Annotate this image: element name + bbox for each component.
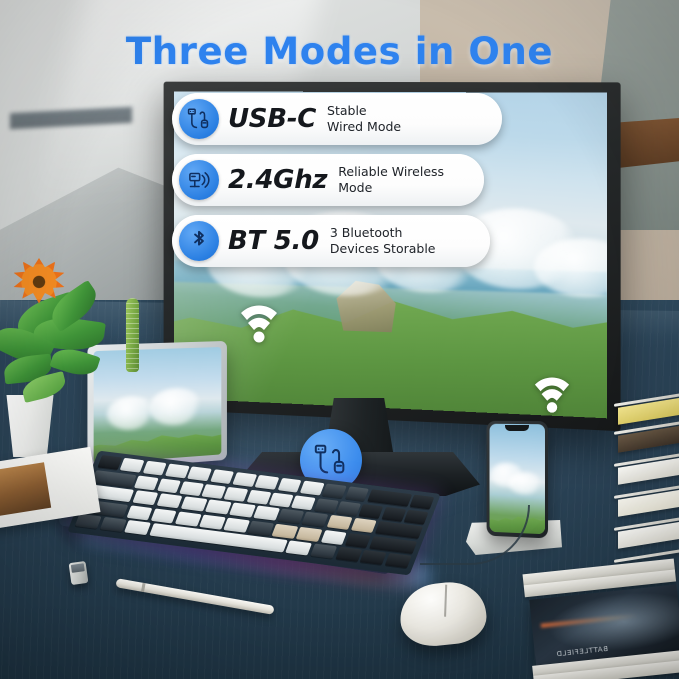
tablet-screen (94, 347, 222, 464)
document-rack (612, 392, 679, 577)
cloud (107, 395, 154, 431)
page-title: Three Modes in One (0, 30, 679, 73)
cactus-texture (126, 298, 139, 372)
usb-cable-icon (179, 99, 219, 139)
feature-pill-usb-c[interactable]: USB-C Stable Wired Mode (172, 93, 502, 145)
cloud (149, 387, 202, 427)
feature-pill-list: USB-C Stable Wired Mode 2.4Ghz Reliable (172, 93, 502, 267)
printed-photo (0, 462, 51, 516)
stylus-band (141, 583, 146, 592)
mouse-button-split (445, 585, 448, 617)
cloud (508, 472, 541, 495)
feature-title: USB-C (228, 104, 316, 134)
feature-pill-2-4ghz[interactable]: 2.4Ghz Reliable Wireless Mode (172, 154, 484, 206)
wifi-signal-icon-right (531, 377, 573, 415)
feature-description: Reliable Wireless Mode (338, 164, 444, 196)
book-stack: BATTLEFIELD (523, 558, 679, 679)
phone-notch (505, 425, 529, 431)
wireless-dongle-icon (179, 160, 219, 200)
feature-title: 2.4Ghz (228, 165, 327, 195)
cactus-plant (126, 298, 139, 372)
dongle-connector (71, 563, 85, 573)
book-cover-title: BATTLEFIELD (555, 645, 608, 658)
feature-pill-bt-5-0[interactable]: BT 5.0 3 Bluetooth Devices Storable (172, 215, 490, 267)
bluetooth-icon (179, 221, 219, 261)
wifi-signal-icon-left (237, 305, 281, 345)
feature-title: BT 5.0 (228, 226, 319, 256)
cover-art-streak (541, 614, 639, 628)
feature-description: 3 Bluetooth Devices Storable (330, 225, 436, 257)
usb-cable-icon (312, 441, 350, 479)
usb-receiver-dongle (69, 561, 89, 585)
product-marketing-image: BATTLEFIELD Three Modes in One (0, 0, 679, 679)
tablet-device (88, 343, 230, 465)
feature-description: Stable Wired Mode (327, 103, 401, 135)
